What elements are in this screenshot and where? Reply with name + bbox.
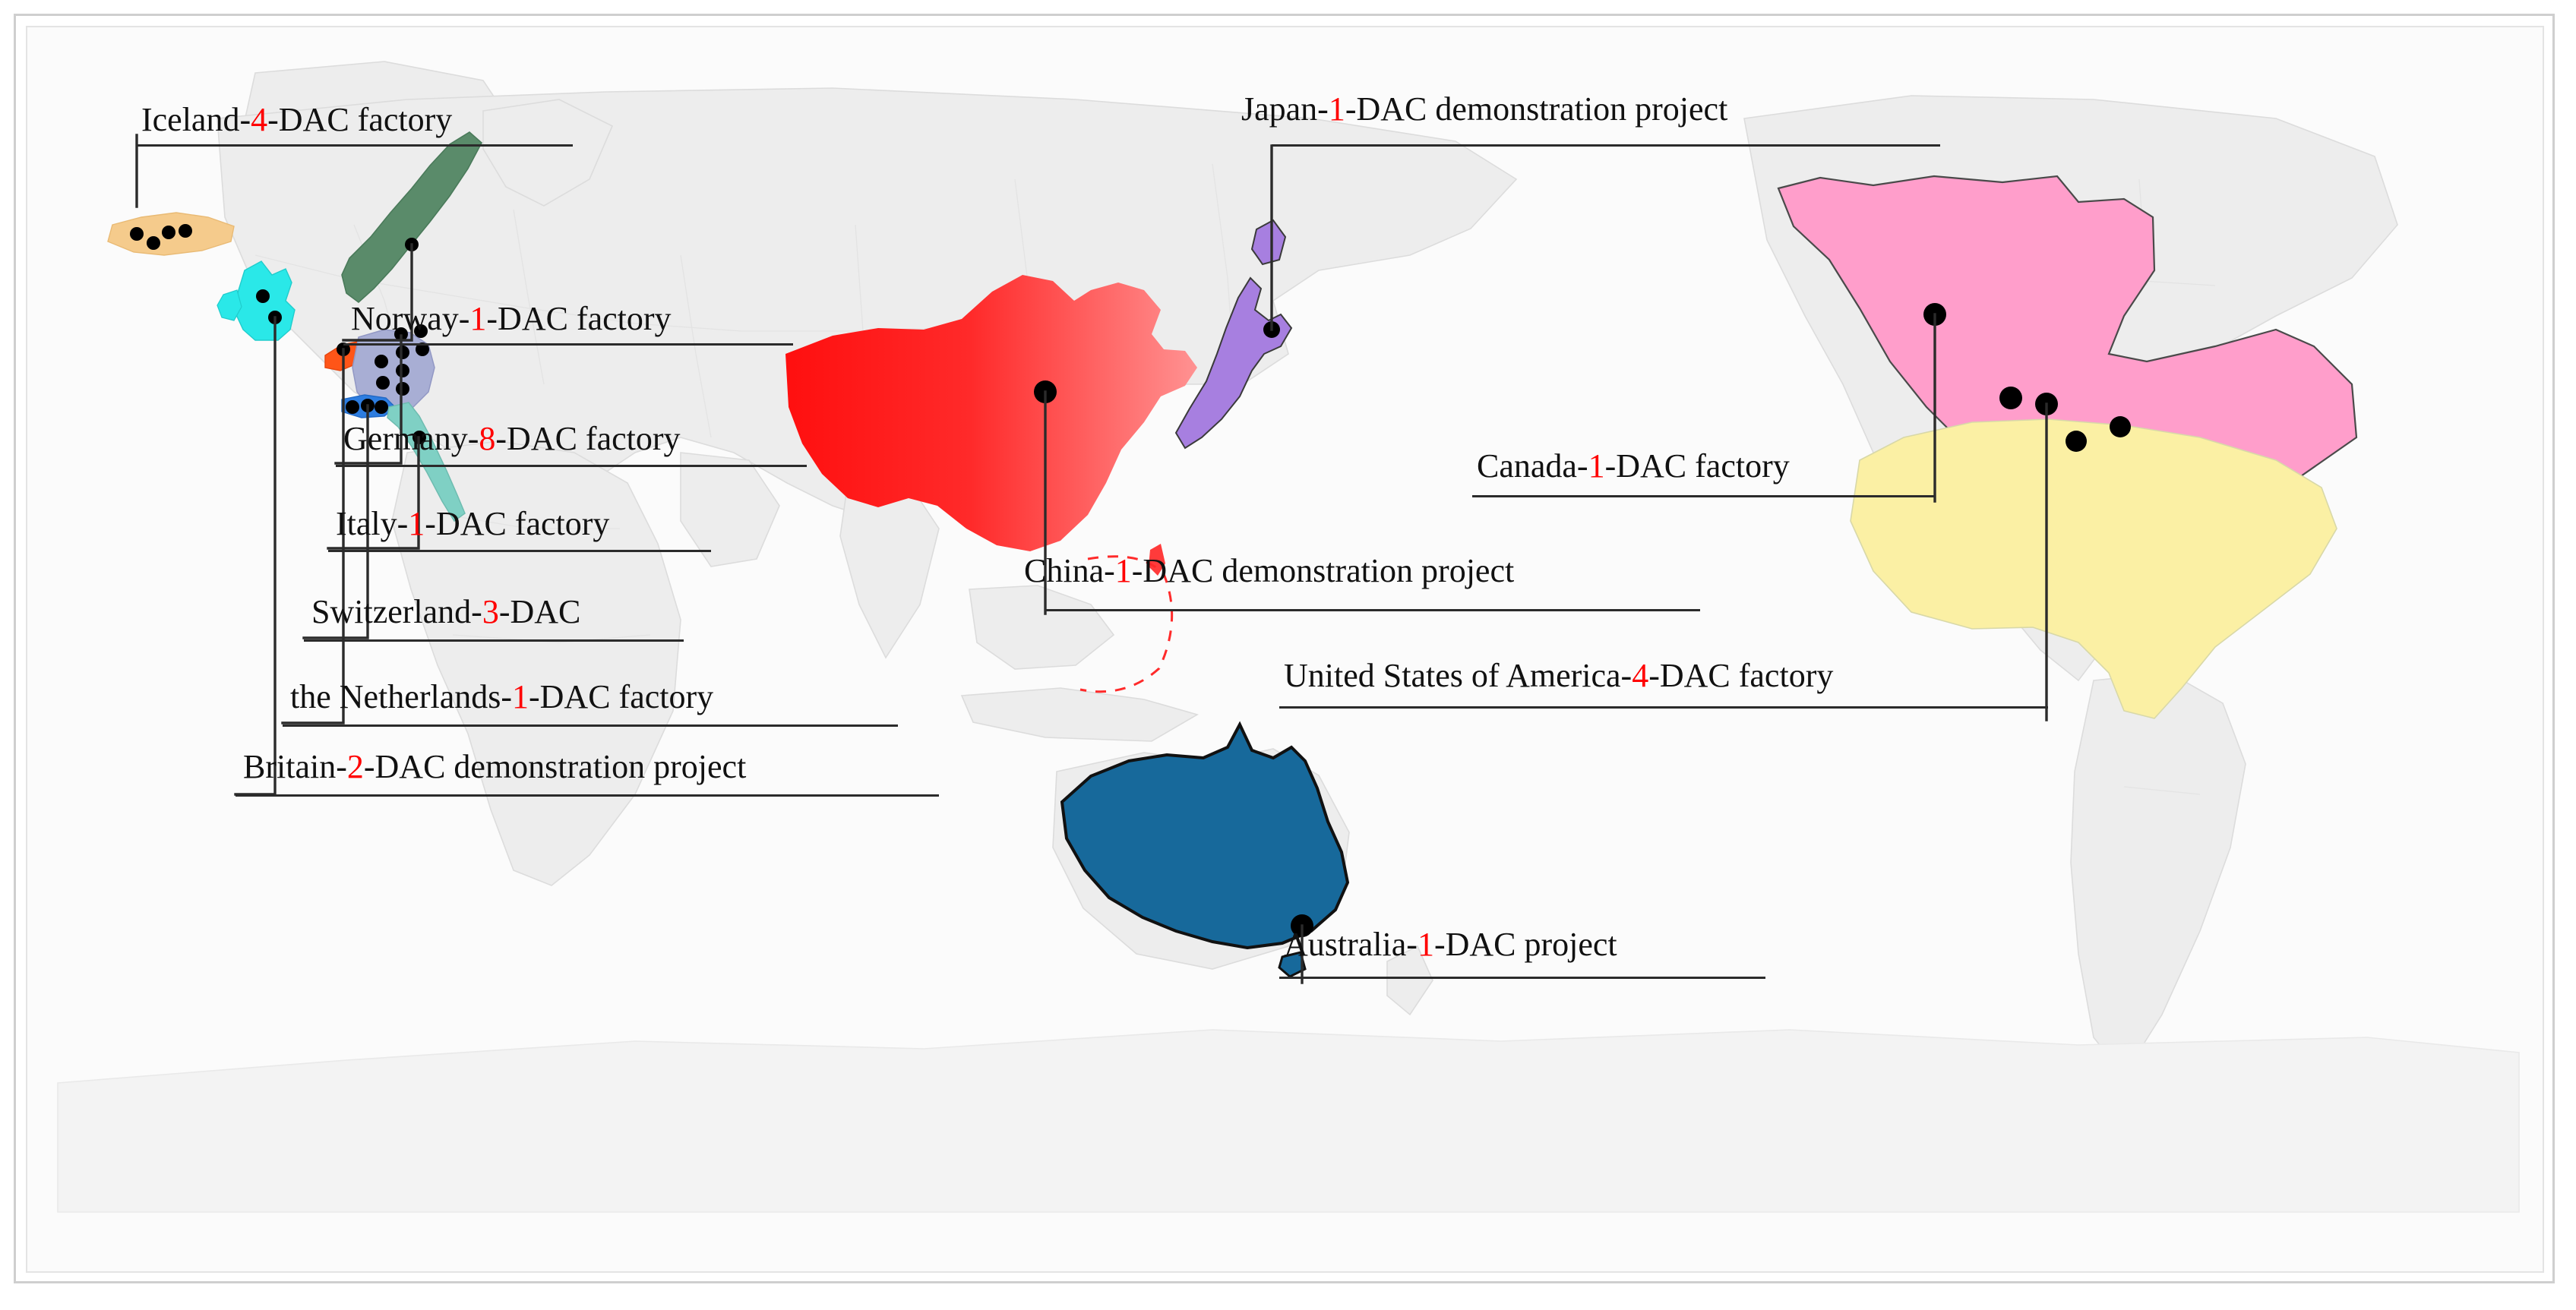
label-rule-china — [1045, 609, 1700, 611]
label-norway-count: 1 — [469, 300, 486, 337]
label-germany-suffix: -DAC factory — [495, 420, 680, 457]
label-rule-germany — [336, 465, 807, 467]
label-usa[interactable]: United States of America-4-DAC factory — [1284, 659, 1833, 693]
leader-lines-layer — [0, 0, 2576, 1310]
label-switzerland-prefix: Switzerland- — [311, 593, 482, 630]
label-australia-suffix: -DAC project — [1434, 926, 1617, 963]
label-canada-prefix: Canada- — [1477, 447, 1588, 485]
label-usa-count: 4 — [1632, 657, 1648, 694]
label-norway-prefix: Norway- — [351, 300, 469, 337]
label-britain-suffix: -DAC demonstration project — [364, 748, 746, 785]
label-canada-suffix: -DAC factory — [1605, 447, 1790, 485]
label-britain-count: 2 — [347, 748, 364, 785]
label-japan[interactable]: Japan-1-DAC demonstration project — [1241, 93, 1727, 126]
label-germany[interactable]: Germany-8-DAC factory — [343, 422, 681, 456]
leader-netherlands — [283, 349, 343, 723]
label-iceland[interactable]: Iceland-4-DAC factory — [141, 103, 452, 137]
label-rule-australia — [1279, 977, 1765, 979]
label-germany-prefix: Germany- — [343, 420, 479, 457]
label-iceland-prefix: Iceland- — [141, 101, 251, 138]
label-china-suffix: -DAC demonstration project — [1132, 552, 1514, 589]
label-netherlands-suffix: -DAC factory — [529, 678, 713, 715]
label-germany-count: 8 — [479, 420, 495, 457]
label-britain-prefix: Britain- — [243, 748, 347, 785]
label-netherlands-count: 1 — [512, 678, 529, 715]
label-rule-netherlands — [283, 724, 898, 727]
label-australia[interactable]: Australia-1-DAC project — [1284, 928, 1617, 961]
label-usa-prefix: United States of America- — [1284, 657, 1632, 694]
label-china[interactable]: China-1-DAC demonstration project — [1024, 554, 1514, 588]
label-japan-count: 1 — [1329, 90, 1345, 128]
label-netherlands-prefix: the Netherlands- — [290, 678, 512, 715]
label-britain[interactable]: Britain-2-DAC demonstration project — [243, 750, 746, 784]
figure-canvas: Iceland-4-DAC factory Norway-1-DAC facto… — [0, 0, 2576, 1310]
label-switzerland-count: 3 — [482, 593, 499, 630]
label-switzerland[interactable]: Switzerland-3-DAC — [311, 595, 580, 629]
label-italy[interactable]: Italy-1-DAC factory — [336, 507, 609, 541]
label-netherlands[interactable]: the Netherlands-1-DAC factory — [290, 680, 713, 714]
label-italy-count: 1 — [408, 505, 425, 542]
label-iceland-suffix: -DAC factory — [267, 101, 452, 138]
label-switzerland-suffix: -DAC — [499, 593, 581, 630]
label-rule-norway — [343, 343, 793, 346]
label-norway-suffix: -DAC factory — [486, 300, 671, 337]
label-rule-iceland — [137, 144, 573, 147]
label-rule-britain — [235, 794, 939, 797]
label-japan-suffix: -DAC demonstration project — [1345, 90, 1727, 128]
label-norway[interactable]: Norway-1-DAC factory — [351, 302, 672, 336]
label-rule-canada — [1472, 495, 1936, 497]
label-japan-prefix: Japan- — [1241, 90, 1329, 128]
label-canada-count: 1 — [1588, 447, 1605, 485]
label-italy-prefix: Italy- — [336, 505, 408, 542]
label-rule-japan — [1272, 144, 1940, 147]
label-rule-switzerland — [304, 639, 684, 642]
label-usa-suffix: -DAC factory — [1648, 657, 1833, 694]
label-rule-usa — [1279, 706, 2048, 709]
label-iceland-count: 4 — [251, 101, 267, 138]
label-canada[interactable]: Canada-1-DAC factory — [1477, 450, 1790, 483]
leader-britain — [235, 317, 275, 794]
label-australia-count: 1 — [1418, 926, 1434, 963]
label-italy-suffix: -DAC factory — [425, 505, 609, 542]
label-china-count: 1 — [1115, 552, 1132, 589]
label-china-prefix: China- — [1024, 552, 1115, 589]
label-rule-italy — [328, 550, 711, 552]
label-australia-prefix: Australia- — [1284, 926, 1418, 963]
